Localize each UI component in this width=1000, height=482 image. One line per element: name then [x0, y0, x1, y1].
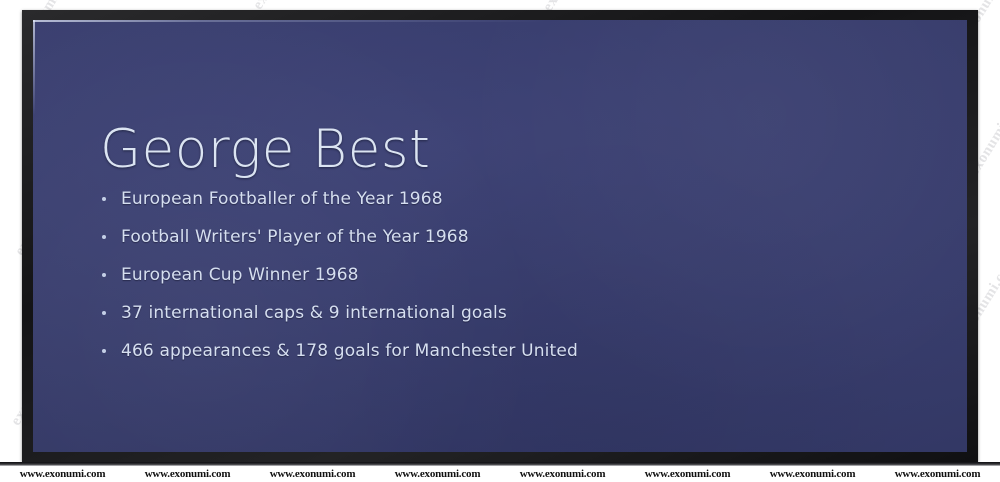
card-outer-frame: George Best European Footballer of the Y… [22, 10, 978, 462]
scanned-card-scene: exonumi.com exonumi.com exonumi.com exon… [0, 0, 1000, 482]
list-item: 466 appearances & 178 goals for Manchest… [99, 332, 899, 370]
card-content: George Best European Footballer of the Y… [33, 20, 967, 452]
bullet-dot-icon [102, 311, 106, 315]
bullet-dot-icon [102, 349, 106, 353]
page-title: George Best [100, 119, 431, 180]
achievement-text: 466 appearances & 178 goals for Manchest… [121, 341, 578, 361]
footer-watermark-strip: www.exonumi.com www.exonumi.com www.exon… [0, 466, 1000, 482]
list-item: Football Writers' Player of the Year 196… [99, 218, 899, 256]
list-item: 37 international caps & 9 international … [99, 294, 899, 332]
achievement-text: 37 international caps & 9 international … [121, 303, 507, 323]
achievement-text: European Footballer of the Year 1968 [121, 189, 443, 209]
list-item: European Footballer of the Year 1968 [99, 180, 899, 218]
achievement-text: Football Writers' Player of the Year 196… [121, 227, 469, 247]
footer-watermark-text: www.exonumi.com [375, 468, 500, 480]
achievements-list: European Footballer of the Year 1968 Foo… [99, 180, 899, 370]
navy-card-face: George Best European Footballer of the Y… [33, 20, 967, 452]
footer-watermark-text: www.exonumi.com [250, 468, 375, 480]
achievement-text: European Cup Winner 1968 [121, 265, 359, 285]
bullet-dot-icon [102, 197, 106, 201]
footer-watermark-text: www.exonumi.com [625, 468, 750, 480]
footer-watermark-text: www.exonumi.com [750, 468, 875, 480]
bullet-dot-icon [102, 273, 106, 277]
bullet-dot-icon [102, 235, 106, 239]
footer-watermark-text: www.exonumi.com [500, 468, 625, 480]
list-item: European Cup Winner 1968 [99, 256, 899, 294]
footer-watermark-text: www.exonumi.com [125, 468, 250, 480]
footer-watermark-text: www.exonumi.com [0, 468, 125, 480]
footer-watermark-text: www.exonumi.com [875, 468, 1000, 480]
